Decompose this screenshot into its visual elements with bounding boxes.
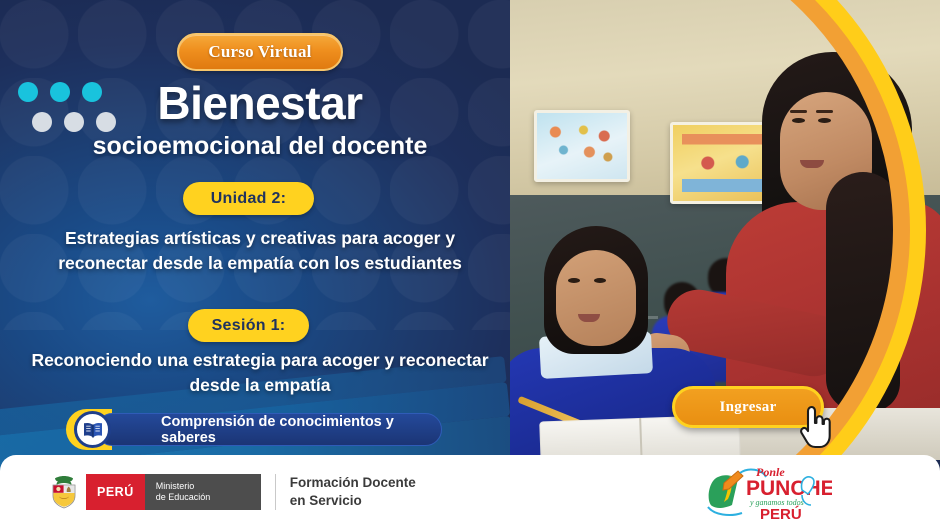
campaign-line-4: PERÚ — [760, 505, 802, 521]
peru-label: PERÚ — [97, 485, 134, 499]
ponle-punche-peru-logo: Ponle PUNCHE y ganamos todos PERÚ — [700, 463, 832, 521]
unit-badge: Unidad 2: — [183, 182, 314, 215]
open-book-icon — [74, 411, 111, 448]
session-badge: Sesión 1: — [188, 309, 309, 342]
course-banner: Curso Virtual Bienestar socioemocional d… — [0, 0, 940, 528]
banner-text-column: Curso Virtual Bienestar socioemocional d… — [0, 0, 520, 460]
wall-poster-icon — [534, 110, 630, 182]
competency-badge: Comprensión de conocimientos y saberes — [66, 409, 442, 450]
page-title: Bienestar — [0, 76, 520, 130]
program-name: Formación Docente en Servicio — [290, 474, 416, 509]
course-type-badge: Curso Virtual — [177, 33, 343, 71]
program-line-2: en Servicio — [290, 492, 416, 510]
session-badge-label: Sesión 1: — [212, 317, 286, 335]
competency-label: Comprensión de conocimientos y saberes — [161, 414, 441, 446]
footer-divider — [275, 474, 276, 510]
unit-badge-label: Unidad 2: — [211, 190, 287, 208]
program-line-1: Formación Docente — [290, 474, 416, 492]
ministry-line-1: Ministerio — [156, 481, 249, 492]
ministry-line-2: de Educación — [156, 492, 249, 503]
page-subtitle: socioemocional del docente — [0, 132, 520, 161]
unit-description: Estrategias artísticas y creativas para … — [20, 226, 500, 276]
session-description: Reconociendo una estrategia para acoger … — [20, 348, 500, 398]
enter-button-label: Ingresar — [719, 399, 776, 416]
campaign-line-2: PUNCHE — [746, 477, 832, 500]
pointing-hand-cursor — [795, 405, 833, 449]
peru-coat-of-arms-icon — [48, 474, 80, 510]
footer: PERÚ Ministerio de Educación Formación D… — [0, 455, 940, 528]
peru-brand-box: PERÚ — [86, 474, 145, 510]
footer-institutional-logo: PERÚ Ministerio de Educación Formación D… — [48, 472, 416, 512]
course-type-label: Curso Virtual — [208, 42, 311, 62]
ministry-box: Ministerio de Educación — [145, 474, 261, 510]
competency-bar: Comprensión de conocimientos y saberes — [96, 413, 442, 446]
